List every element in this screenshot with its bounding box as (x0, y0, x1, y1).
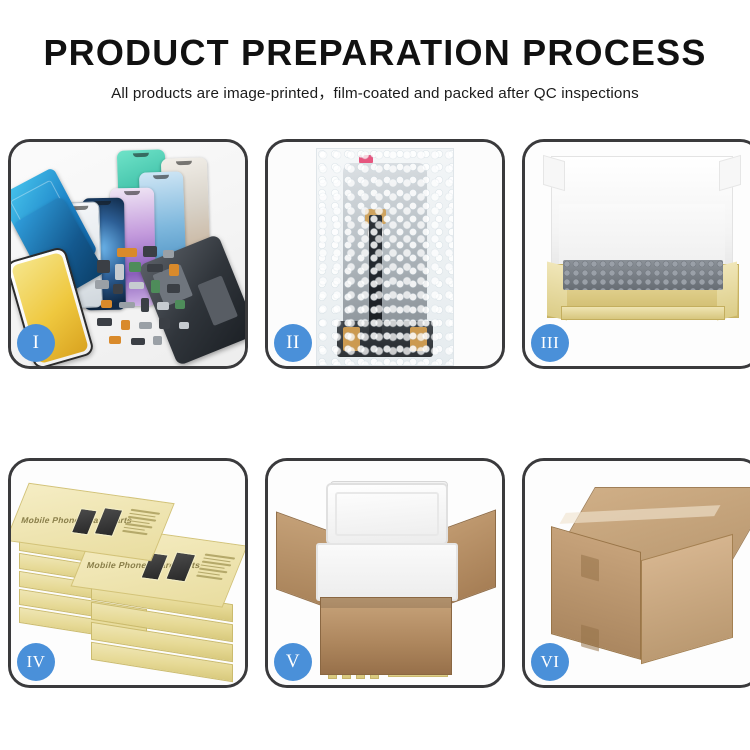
bubble-wrap-bag (316, 148, 454, 366)
notch-icon (124, 191, 140, 195)
notch-icon (153, 175, 169, 180)
foam-tray (316, 543, 458, 601)
process-step-panel-1: I (8, 139, 248, 369)
product-preparation-infographic: PRODUCT PREPARATION PROCESS All products… (0, 0, 750, 750)
foam-lid (326, 483, 448, 545)
box-stack: Mobile Phone Spare Parts Mobile Phone Sp… (17, 489, 243, 675)
bubble-texture (317, 149, 453, 365)
notch-icon (176, 161, 192, 166)
step-badge-2: II (274, 324, 312, 362)
step-badge-6: VI (531, 643, 569, 681)
step-badge-3: III (531, 324, 569, 362)
bubble-wrapped-contents (563, 260, 723, 290)
box-spec-lines-back (122, 509, 163, 536)
process-step-grid: I II (8, 139, 742, 688)
process-step-panel-3: III (522, 139, 750, 369)
carton-body (320, 597, 452, 675)
process-step-panel-6: VI (522, 458, 750, 688)
process-step-panel-4: Mobile Phone Spare Parts Mobile Phone Sp… (8, 458, 248, 688)
small-parts-cluster (93, 246, 209, 358)
page-subtitle: All products are image-printed，film-coat… (0, 81, 750, 103)
box-lid-flap-right (719, 155, 741, 191)
process-step-panel-5: V (265, 458, 505, 688)
tape-tab-lower (581, 624, 599, 651)
process-step-panel-2: II (265, 139, 505, 369)
page-title: PRODUCT PREPARATION PROCESS (0, 34, 750, 72)
notch-icon (133, 153, 149, 158)
box-lid-flap-left (543, 155, 565, 191)
step-badge-5: V (274, 643, 312, 681)
box-spec-lines-front (196, 553, 237, 580)
tray-front-panel (561, 306, 725, 320)
header: PRODUCT PREPARATION PROCESS All products… (0, 0, 750, 103)
step-badge-4: IV (17, 643, 55, 681)
step-badge-1: I (17, 324, 55, 362)
